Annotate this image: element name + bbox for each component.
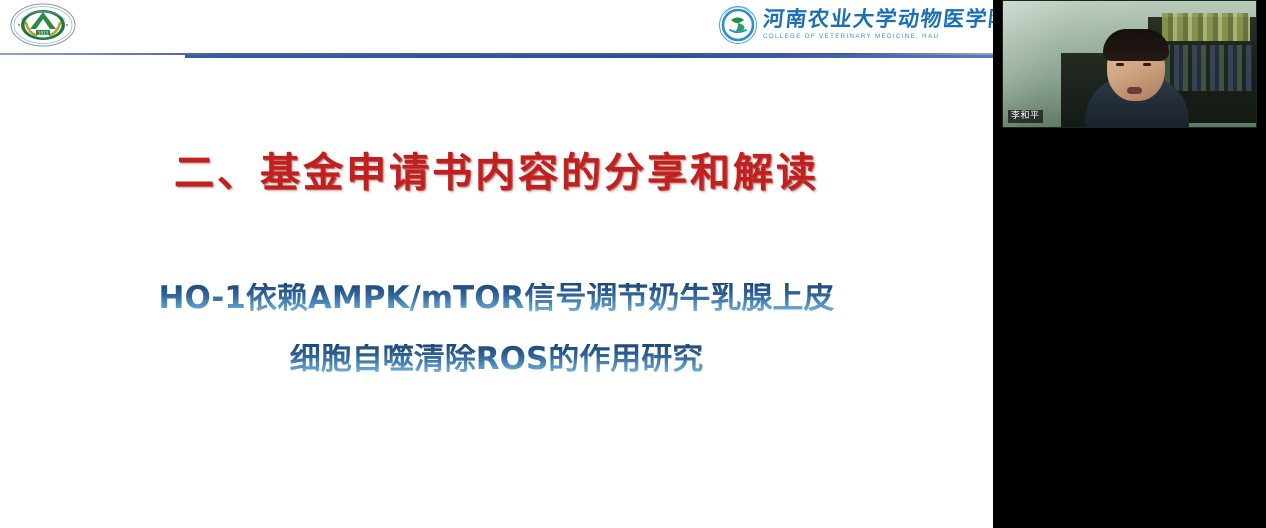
video-participant-eye-right [1143, 63, 1151, 66]
header-divider [0, 52, 993, 59]
presentation-screen: 1913 [0, 0, 1266, 528]
hau-university-seal-icon: 1913 [9, 2, 77, 48]
project-title-line-2: 细胞自噬清除ROS的作用研究 [0, 344, 993, 375]
video-participant-hair [1103, 29, 1169, 61]
section-heading: 二、基金申请书内容的分享和解读 [0, 140, 993, 198]
college-name-en: COLLEGE OF VETERINARY MEDICINE, HAU [763, 34, 993, 40]
college-name-block: 河南农业大学动物医学院 COLLEGE OF VETERINARY MEDICI… [763, 9, 993, 40]
video-shelf-top-items [1162, 13, 1250, 41]
project-title: HO-1依赖AMPK/mTOR信号调节奶牛乳腺上皮 细胞自噬清除ROS的作用研究 [0, 283, 993, 375]
video-participant-mouth [1127, 87, 1142, 94]
college-name-cn: 河南农业大学动物医学院 [762, 9, 993, 30]
slide-header: 1913 [0, 0, 993, 52]
participant-video-tile[interactable]: 李和平 [1002, 0, 1257, 128]
video-participant-eye-left [1116, 63, 1124, 66]
project-title-line-1: HO-1依赖AMPK/mTOR信号调节奶牛乳腺上皮 [0, 283, 993, 314]
college-veterinary-medicine-logo-icon [718, 5, 758, 45]
slide-canvas: 1913 [0, 0, 993, 528]
header-divider-thick-line [185, 55, 993, 58]
video-sidebar: 李和平 [993, 0, 1266, 528]
svg-text:1913: 1913 [38, 31, 49, 36]
participant-name-tag: 李和平 [1008, 110, 1043, 123]
college-logo-lockup: 河南农业大学动物医学院 COLLEGE OF VETERINARY MEDICI… [718, 3, 980, 47]
